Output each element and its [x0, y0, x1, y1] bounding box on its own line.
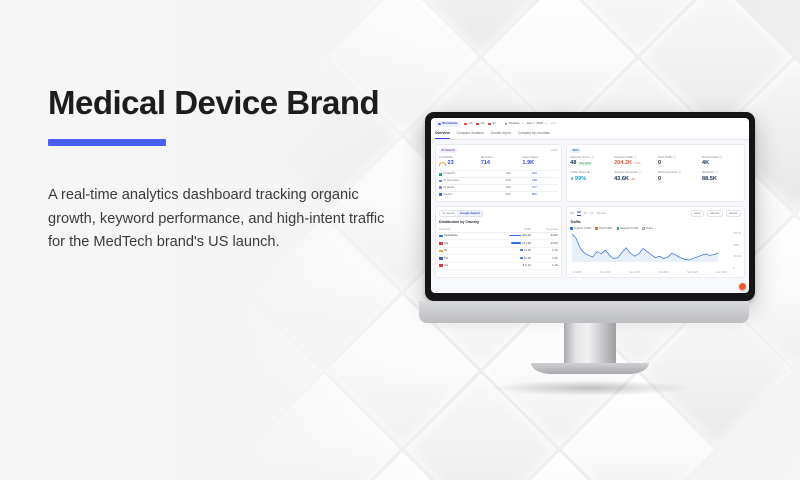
table-row[interactable]: US 171.0K 23.6K — [439, 240, 558, 247]
dashboard-topbar: Worldwide US UK IN ··· — [431, 118, 749, 129]
model-pages: 920 — [532, 172, 558, 176]
range-1m[interactable]: 1M — [570, 212, 574, 215]
flag-icon: ▰ — [587, 170, 589, 174]
metric-value: 4K — [702, 160, 741, 167]
country-table-body: Worldwide 204.2K 43.6K US — [439, 232, 558, 269]
country-name: US — [444, 242, 448, 246]
seo-card: SEO Authority Score ⓘ 48 Very good — [566, 144, 745, 202]
gauge-icon — [439, 161, 446, 166]
traffic-cell: 11.0K — [481, 247, 531, 254]
country-cell: IN — [439, 247, 481, 254]
list-item[interactable]: Gemini 603 805 — [439, 191, 558, 198]
table-row[interactable]: PH 10.3K 1.6K — [439, 255, 558, 262]
x-tick: Sep 2025 — [629, 271, 640, 274]
metric-label: Paid Keywords ⓘ — [658, 171, 697, 175]
metric-label: Organic Keywords ⓘ — [614, 171, 653, 175]
metric-value: 204.2K -3.2% — [614, 160, 653, 167]
model-mentions: 373 — [506, 179, 532, 183]
keywords-cell: 1.6K — [531, 255, 558, 262]
date-selector[interactable]: Dec 7, 2025 ⌄ — [527, 122, 547, 126]
locale-label: IN — [493, 122, 496, 126]
metric-label: Paid Traffic ⓘ — [658, 156, 697, 160]
info-icon[interactable]: ⓘ — [720, 155, 723, 159]
model-pages: 188 — [532, 179, 558, 183]
metric-value: 1.9K — [522, 160, 558, 167]
metric-organic-traffic: Organic Traffic ⓘ 204.2K -3.2% — [614, 156, 653, 167]
traffic-cell: 6.1K — [481, 262, 531, 269]
export-button[interactable]: Export — [726, 210, 741, 217]
keywords-cell: 1.1K — [531, 262, 558, 269]
page-title: Medical Device Brand — [48, 84, 398, 122]
model-name: AI Overview — [443, 179, 459, 183]
traffic-cell: 204.2K — [481, 232, 531, 239]
y-tick: 203K — [733, 244, 741, 247]
dashboard-tabs: Overview Compare domains Growth report C… — [431, 129, 749, 140]
locale-more-button[interactable]: ··· — [499, 122, 502, 126]
tab-compare-domains[interactable]: Compare domains — [457, 129, 484, 139]
metric-value: 23 — [439, 160, 475, 167]
metric-value: 48 Very good — [570, 160, 609, 167]
tab-growth-report[interactable]: Growth report — [491, 129, 511, 139]
traffic-actions: Days Months Export — [691, 210, 741, 217]
monitor-stand-neck — [564, 323, 616, 363]
metric-value: 43.6K -1% — [614, 176, 653, 183]
legend-paid-traffic[interactable]: Paid Traffic — [595, 227, 612, 230]
metric-mentions: Mentions 714 — [481, 156, 517, 167]
metric-label: Organic Traffic ⓘ — [614, 156, 653, 160]
info-icon[interactable]: ⓘ — [673, 155, 676, 159]
metric-paid-keywords: Paid Keywords ⓘ 0 — [658, 171, 697, 182]
chart-legend: Organic Traffic Paid Traffic Branded Tra… — [570, 227, 741, 230]
seo-metrics-grid: Authority Score ⓘ 48 Very good Organic T… — [570, 156, 741, 183]
metric-value: 0 — [658, 176, 697, 183]
metric-number: 23 — [448, 160, 454, 167]
flag-icon — [439, 242, 443, 245]
ai-search-badge: AI Search — [439, 148, 457, 153]
range-1y[interactable]: 1Y — [584, 212, 587, 215]
metric-value: ◕ 99% — [570, 176, 609, 183]
flag-icon — [439, 235, 443, 238]
keywords-cell: 3.7K — [531, 247, 558, 254]
metric-value: 714 — [481, 160, 517, 167]
list-item[interactable]: AI Overview 373 188 — [439, 177, 558, 184]
model-mentions: 744 — [506, 172, 532, 176]
y-tick: 151.6K — [733, 255, 741, 258]
traffic-panel: 1M 6M 1Y 2Y All time Days Months Export — [566, 206, 745, 278]
metric-organic-keywords: Organic Keywords ⓘ 43.6K -1% — [614, 171, 653, 182]
traffic-cell: 10.3K — [481, 255, 531, 262]
metric-value: 0 — [658, 160, 697, 167]
country-distribution-panel: AI Search Google Search Distribution by … — [435, 206, 562, 278]
table-row[interactable]: IN 11.0K 3.7K — [439, 247, 558, 254]
metric-number: 204.2K — [614, 160, 632, 167]
months-button[interactable]: Months — [707, 210, 723, 217]
device-label: Desktop — [509, 122, 520, 126]
donut-icon: ◕ — [570, 176, 573, 183]
y-tick: 241.5K — [733, 232, 741, 235]
days-button[interactable]: Days — [691, 210, 705, 217]
metric-number: 99% — [575, 176, 586, 183]
legend-notes[interactable]: Notes⌄ — [642, 227, 656, 230]
flag-icon — [439, 264, 443, 267]
monitor-shadow — [490, 380, 690, 396]
gemini-icon — [439, 193, 442, 196]
list-item[interactable]: ChatGPT 744 920 — [439, 170, 558, 177]
metric-number: 43.6K — [614, 176, 629, 183]
metric-label: Traffic Share ▰ — [570, 171, 609, 175]
x-axis-labels: Jul 2025 Aug 2025 Sep 2025 Oct 2025 Nov … — [570, 270, 741, 274]
metric-label: Mentions — [481, 156, 517, 160]
country-name: IN — [444, 249, 447, 253]
keywords-cell: 43.6K — [531, 232, 558, 239]
metric-value: 88.5K — [702, 176, 741, 183]
currency-label[interactable]: USD — [550, 122, 556, 126]
metric-ref-domains: Ref Domains ⓘ 4K — [702, 156, 741, 167]
country-name: PH — [444, 257, 448, 261]
metric-label: AI Visibility — [439, 156, 475, 160]
range-all-time[interactable]: All time — [597, 212, 606, 215]
country-cell: US — [439, 240, 481, 247]
metric-authority-score: Authority Score ⓘ 48 Very good — [570, 156, 609, 167]
device-selector[interactable]: Desktop ⌄ — [505, 122, 524, 126]
metric-cited-pages: Cited Pages 1.9K — [522, 156, 558, 167]
chevron-down-icon: ⌄ — [654, 227, 656, 230]
locale-chip-uk[interactable]: UK — [476, 122, 485, 126]
project-selector[interactable]: Worldwide — [435, 121, 461, 127]
metric-label: Authority Score ⓘ — [570, 156, 609, 160]
metric-delta: -1% — [631, 178, 636, 181]
toggle-ai-search[interactable]: AI Search — [440, 211, 457, 216]
metric-label: Backlinks ⓘ — [702, 171, 741, 175]
chevron-down-icon: ⌄ — [521, 122, 524, 126]
toggle-google-search[interactable]: Google Search — [457, 211, 482, 216]
accent-bar — [48, 139, 166, 146]
metric-label: Ref Domains ⓘ — [702, 156, 741, 160]
info-icon[interactable]: ⓘ — [591, 155, 594, 159]
ai-metrics: AI Visibility 23 Mentions 7 — [439, 156, 558, 167]
y-axis-labels: 241.5K 203K 151.6K 0 — [733, 232, 741, 270]
country-cell: CA — [439, 262, 481, 269]
country-name: CA — [444, 264, 448, 268]
range-2y[interactable]: 2Y — [590, 212, 593, 215]
list-item[interactable]: AI Mode 134 477 — [439, 184, 558, 191]
lower-panels: AI Search Google Search Distribution by … — [431, 206, 749, 282]
model-pages: 805 — [532, 193, 558, 197]
metric-backlinks: Backlinks ⓘ 88.5K — [702, 171, 741, 182]
monitor-screen: Worldwide US UK IN ··· — [431, 118, 749, 293]
flag-icon — [476, 123, 480, 126]
monitor-mockup: Worldwide US UK IN ··· — [425, 112, 755, 396]
flag-icon — [464, 123, 468, 126]
model-mentions: 603 — [506, 193, 532, 197]
country-cell: Worldwide — [439, 232, 481, 239]
seo-card-header: SEO — [570, 148, 741, 153]
chevron-down-icon: ⌄ — [545, 122, 548, 126]
ai-search-card: AI Search Learn AI Visibility 23 — [435, 144, 562, 202]
table-row[interactable]: Worldwide 204.2K 43.6K — [439, 232, 558, 239]
legend-organic-traffic[interactable]: Organic Traffic — [570, 227, 591, 230]
help-fab-button[interactable] — [739, 283, 746, 290]
ai-mode-icon — [439, 186, 442, 189]
metric-delta: -3.2% — [634, 162, 641, 165]
model-name: ChatGPT — [443, 172, 455, 176]
traffic-cell: 171.0K — [481, 240, 531, 247]
flag-icon — [488, 123, 492, 126]
metric-label: Cited Pages — [522, 156, 558, 160]
y-tick: 0 — [733, 267, 741, 270]
info-icon[interactable]: ⓘ — [715, 170, 718, 174]
model-name: Gemini — [443, 193, 452, 197]
metric-paid-traffic: Paid Traffic ⓘ 0 — [658, 156, 697, 167]
traffic-toolbar: 1M 6M 1Y 2Y All time Days Months Export — [570, 210, 741, 217]
ai-model-list: ChatGPT 744 920 AI Overview 373 188 — [439, 170, 558, 197]
flag-icon — [439, 257, 443, 260]
tab-compare-by-countries[interactable]: Compare by countries — [518, 129, 550, 139]
x-tick: Nov 2025 — [687, 271, 698, 274]
x-tick: Aug 2025 — [600, 271, 611, 274]
hero-description: A real-time analytics dashboard tracking… — [48, 184, 388, 255]
model-name: AI Mode — [443, 186, 454, 190]
source-toggle-row: AI Search Google Search — [439, 210, 558, 217]
info-icon[interactable]: ⓘ — [678, 170, 681, 174]
x-tick: Dec 2025 — [716, 271, 727, 274]
locale-chip-us[interactable]: US — [464, 122, 473, 126]
x-tick: Oct 2025 — [658, 271, 668, 274]
source-toggle[interactable]: AI Search Google Search — [439, 210, 483, 217]
country-table: Countries Traffic Keywords Worldwide — [439, 227, 558, 270]
locale-label: UK — [481, 122, 485, 126]
locale-chip-in[interactable]: IN — [488, 122, 496, 126]
date-label: Dec 7, 2025 — [527, 122, 543, 126]
country-panel-title: Distribution by Country — [439, 220, 558, 224]
ai-card-learn-link[interactable]: Learn — [551, 149, 558, 152]
analytics-dashboard: Worldwide US UK IN ··· — [431, 118, 749, 282]
monitor-bezel: Worldwide US UK IN ··· — [425, 112, 755, 301]
hero-text-block: Medical Device Brand A real-time analyti… — [48, 84, 398, 255]
monitor-icon — [505, 123, 508, 126]
locale-label: US — [469, 122, 473, 126]
range-selector[interactable]: 1M 6M 1Y 2Y All time — [570, 211, 606, 215]
traffic-panel-title: Traffic — [570, 220, 741, 224]
metric-cards-row: AI Search Learn AI Visibility 23 — [431, 140, 749, 206]
ai-overview-icon — [439, 180, 442, 183]
metric-ai-visibility: AI Visibility 23 — [439, 156, 475, 167]
country-name: Worldwide — [444, 234, 457, 238]
info-icon[interactable]: ⓘ — [639, 170, 642, 174]
model-mentions: 134 — [506, 186, 532, 190]
keywords-cell: 23.6K — [531, 240, 558, 247]
monitor-chin — [419, 301, 749, 323]
legend-branded-traffic[interactable]: Branded Traffic — [617, 227, 639, 230]
chatgpt-icon — [439, 173, 442, 176]
x-tick: Jul 2025 — [572, 271, 581, 274]
tab-overview[interactable]: Overview — [435, 129, 450, 139]
globe-icon — [438, 123, 441, 126]
project-label: Worldwide — [442, 122, 458, 126]
country-cell: PH — [439, 255, 481, 262]
status-badge: Very good — [578, 162, 592, 166]
range-6m[interactable]: 6M — [577, 211, 581, 215]
model-pages: 477 — [532, 186, 558, 190]
metric-traffic-share: Traffic Share ▰ ◕ 99% — [570, 171, 609, 182]
monitor-stand-foot — [531, 363, 649, 374]
traffic-line-chart — [570, 232, 730, 266]
ai-card-header: AI Search Learn — [439, 148, 558, 153]
traffic-chart: 241.5K 203K 151.6K 0 — [570, 232, 741, 270]
flag-icon — [439, 250, 443, 253]
seo-badge: SEO — [570, 148, 581, 153]
info-icon[interactable]: ⓘ — [634, 155, 637, 159]
metric-number: 48 — [570, 160, 576, 167]
table-row[interactable]: CA 6.1K 1.1K — [439, 262, 558, 269]
